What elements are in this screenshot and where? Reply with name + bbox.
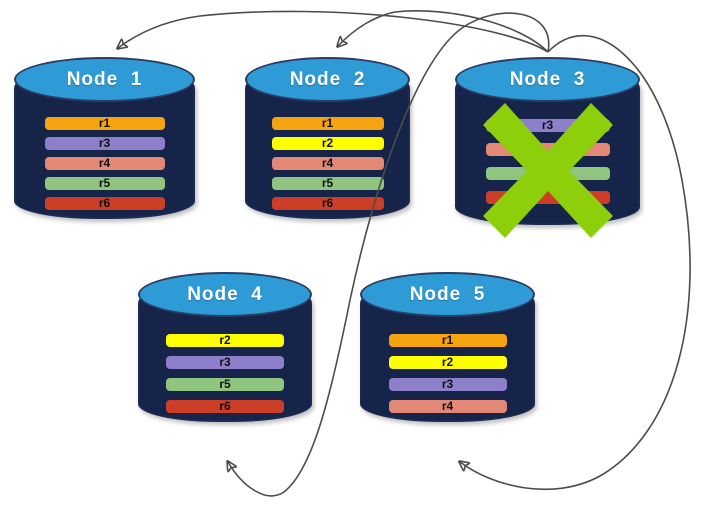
arrow-layer — [0, 0, 708, 508]
arrow-node3-to-node5 — [460, 36, 690, 490]
arrow-node3-to-node4 — [228, 13, 549, 496]
diagram-canvas: Node 1 r1 r3 r4 r5 r6 Node 2 r1 r2 r4 r5… — [0, 0, 708, 508]
